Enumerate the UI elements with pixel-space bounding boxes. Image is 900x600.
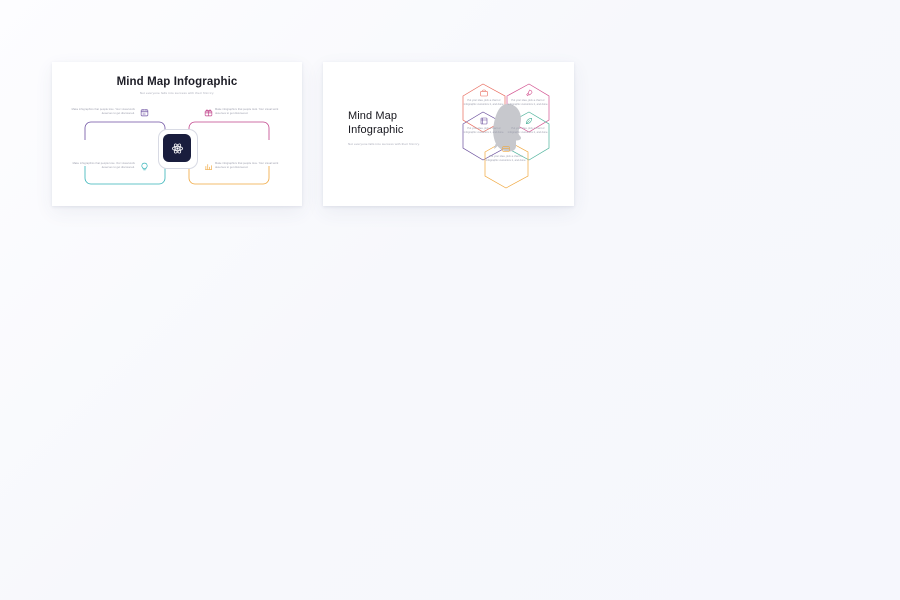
node-text-bottom-right: Make infographics that people love. Your…	[215, 162, 281, 170]
right-slide-subtitle: Not everyone falls into success with the…	[348, 142, 420, 147]
hex-text-top-right: Put your idea, pick a chart or infograph…	[506, 99, 550, 107]
book-icon	[480, 117, 488, 125]
gift-icon	[204, 108, 213, 117]
canvas: Mind Map Infographic Not everyone falls …	[0, 0, 900, 600]
hex-text-mid-right: Put your idea, pick a chart or infograph…	[506, 127, 550, 135]
right-title-line-2: Infographic	[348, 124, 404, 136]
leaf-icon	[525, 117, 533, 125]
right-slide-title: Mind Map Infographic	[348, 109, 443, 137]
node-text-bottom-left: Make infographics that people love. Our …	[69, 162, 135, 170]
left-mindmap-diagram: Make infographics that people love. Your…	[52, 102, 302, 202]
slide-card-left[interactable]: Mind Map Infographic Not everyone falls …	[52, 62, 302, 206]
left-slide-subtitle: Not everyone falls into success with the…	[52, 91, 302, 96]
slide-card-right[interactable]: Mind Map Infographic Not everyone falls …	[323, 62, 574, 206]
right-title-line-1: Mind Map	[348, 110, 397, 122]
hex-text-mid-left: Put your idea, pick a chart or infograph…	[462, 127, 506, 135]
left-slide-header: Mind Map Infographic Not everyone falls …	[52, 76, 302, 96]
right-hexagon-diagram: Put your idea, pick a chart or infograph…	[443, 74, 569, 196]
chart-icon	[204, 162, 213, 171]
briefcase-icon	[480, 89, 488, 97]
left-slide-title: Mind Map Infographic	[52, 76, 302, 89]
card-icon	[502, 145, 510, 153]
center-node-atom-icon[interactable]	[163, 134, 191, 162]
lamp-icon	[140, 162, 149, 171]
node-text-top-right: Make infographics that people look. Your…	[215, 108, 281, 116]
hex-text-bottom-center: Put your idea, pick a chart or infograph…	[484, 155, 528, 163]
node-text-top-left: Make infographics that people love. Your…	[69, 108, 135, 116]
calendar-icon	[140, 108, 149, 117]
hex-text-top-left: Put your idea, pick a chart or infograph…	[462, 99, 506, 107]
rocket-icon	[525, 89, 533, 97]
